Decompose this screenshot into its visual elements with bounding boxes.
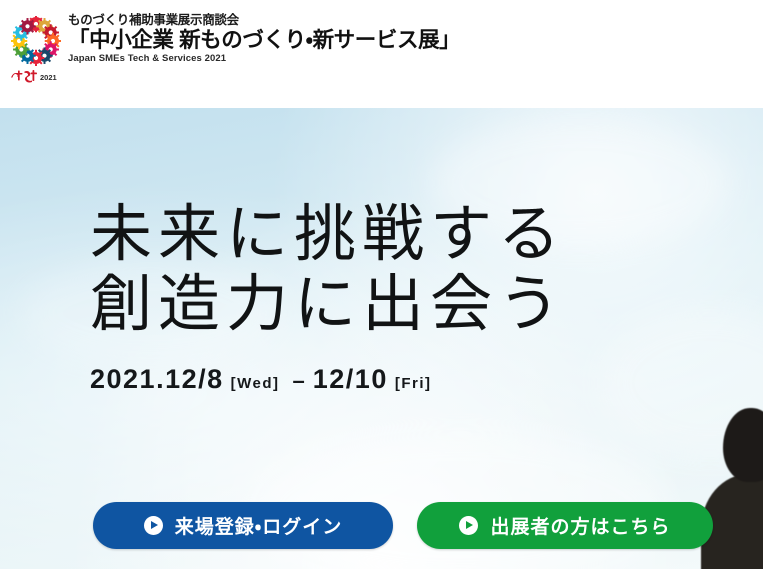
header-tagline-top: ものづくり補助事業展示商談会 [68, 14, 460, 27]
person-head-silhouette [723, 408, 763, 482]
event-date: 2021.12/8 [Wed] – 12/10 [Fri] [90, 364, 566, 395]
play-circle-icon [144, 516, 163, 535]
header-tagline-english: Japan SMEs Tech & Services 2021 [68, 54, 460, 64]
header-title-block: ものづくり補助事業展示商談会 「中小企業 新ものづくり・新サービス展」 Japa… [68, 12, 460, 64]
visitor-registration-label: 来場登録・ログイン [175, 512, 342, 539]
event-date-separator: – [293, 368, 306, 394]
logo-wordmark-icon: 2021 [10, 68, 62, 84]
page-root: 2021 ものづくり補助事業展示商談会 「中小企業 新ものづくり・新サービス展」… [0, 0, 763, 569]
site-logo[interactable]: 2021 [8, 12, 62, 88]
svg-text:2021: 2021 [40, 73, 57, 82]
hero-headline-line-2: 創造力に出会う [90, 270, 566, 342]
event-date-start-weekday: [Wed] [231, 375, 280, 392]
exhibitor-info-label: 出展者の方はこちら [490, 512, 670, 539]
play-circle-icon [459, 516, 478, 535]
event-date-start: 2021.12/8 [90, 364, 224, 395]
hero-banner: 未来に挑戦する 創造力に出会う 2021.12/8 [Wed] – 12/10 … [0, 108, 763, 569]
site-header: 2021 ものづくり補助事業展示商談会 「中小企業 新ものづくり・新サービス展」… [0, 0, 763, 108]
event-date-end: 12/10 [313, 364, 388, 395]
hero-copy: 未来に挑戦する 創造力に出会う 2021.12/8 [Wed] – 12/10 … [90, 200, 566, 395]
gear-ring-icon [11, 16, 61, 66]
header-title-main: 「中小企業 新ものづくり・新サービス展」 [68, 30, 460, 52]
hero-headline-line-1: 未来に挑戦する [90, 200, 566, 272]
exhibitor-info-button[interactable]: 出展者の方はこちら [417, 502, 713, 549]
header-inner: 2021 ものづくり補助事業展示商談会 「中小企業 新ものづくり・新サービス展」… [8, 12, 460, 88]
visitor-registration-button[interactable]: 来場登録・ログイン [93, 502, 393, 549]
event-date-end-weekday: [Fri] [395, 375, 432, 392]
cta-button-row: 来場登録・ログイン 出展者の方はこちら [93, 502, 713, 549]
